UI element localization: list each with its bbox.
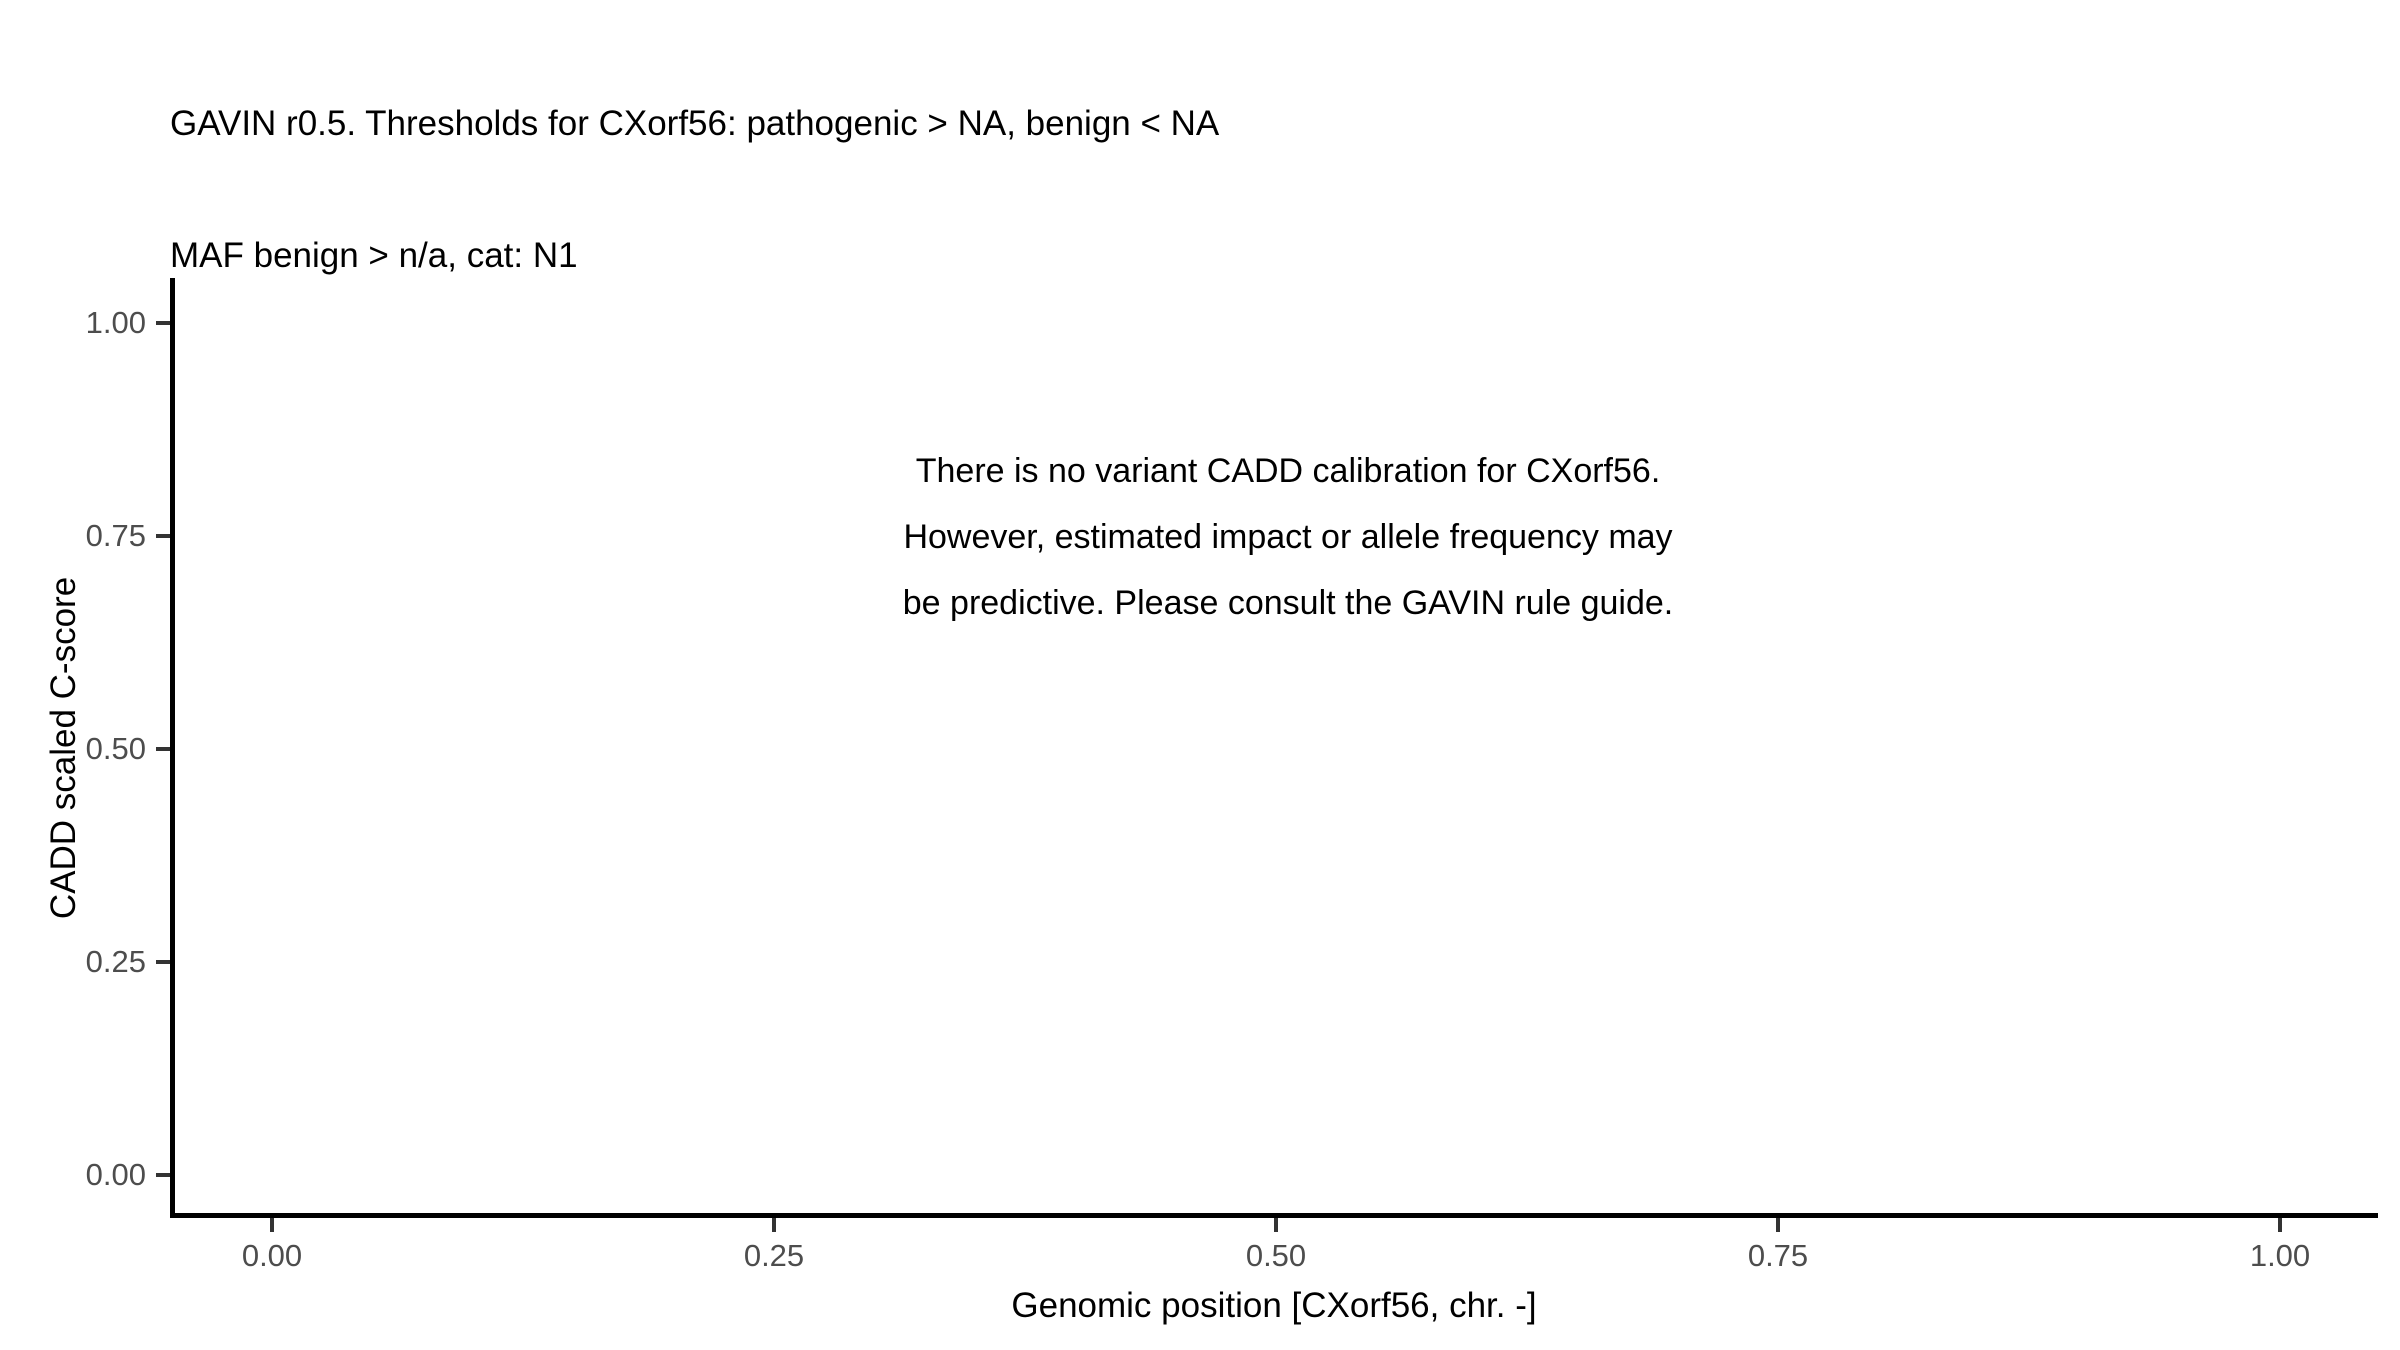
- chart-title-line-1: GAVIN r0.5. Thresholds for CXorf56: path…: [170, 102, 2270, 146]
- x-tick-label-0: 0.00: [192, 1238, 352, 1274]
- y-axis-line: [170, 278, 175, 1218]
- x-tick-mark-1: [772, 1218, 776, 1232]
- y-tick-mark-4: [156, 321, 170, 325]
- x-tick-label-1: 0.25: [694, 1238, 854, 1274]
- x-tick-mark-0: [270, 1218, 274, 1232]
- annotation-line-3: be predictive. Please consult the GAVIN …: [738, 570, 1838, 636]
- x-tick-mark-3: [1776, 1218, 1780, 1232]
- x-tick-label-2: 0.50: [1196, 1238, 1356, 1274]
- y-tick-mark-0: [156, 1173, 170, 1177]
- annotation-line-2: However, estimated impact or allele freq…: [738, 504, 1838, 570]
- y-tick-mark-1: [156, 960, 170, 964]
- y-tick-mark-3: [156, 534, 170, 538]
- y-tick-mark-2: [156, 747, 170, 751]
- x-tick-label-3: 0.75: [1698, 1238, 1858, 1274]
- chart-title-line-2: MAF benign > n/a, cat: N1: [170, 234, 2270, 278]
- no-calibration-annotation: There is no variant CADD calibration for…: [738, 438, 1838, 636]
- chart-root: GAVIN r0.5. Thresholds for CXorf56: path…: [0, 0, 2400, 1350]
- plot-panel: There is no variant CADD calibration for…: [172, 278, 2378, 1214]
- x-tick-mark-4: [2278, 1218, 2282, 1232]
- y-axis-title: CADD scaled C-score: [44, 278, 84, 1218]
- annotation-line-1: There is no variant CADD calibration for…: [738, 438, 1838, 504]
- x-tick-label-4: 1.00: [2200, 1238, 2360, 1274]
- x-axis-title: Genomic position [CXorf56, chr. -]: [170, 1286, 2378, 1326]
- x-tick-mark-2: [1274, 1218, 1278, 1232]
